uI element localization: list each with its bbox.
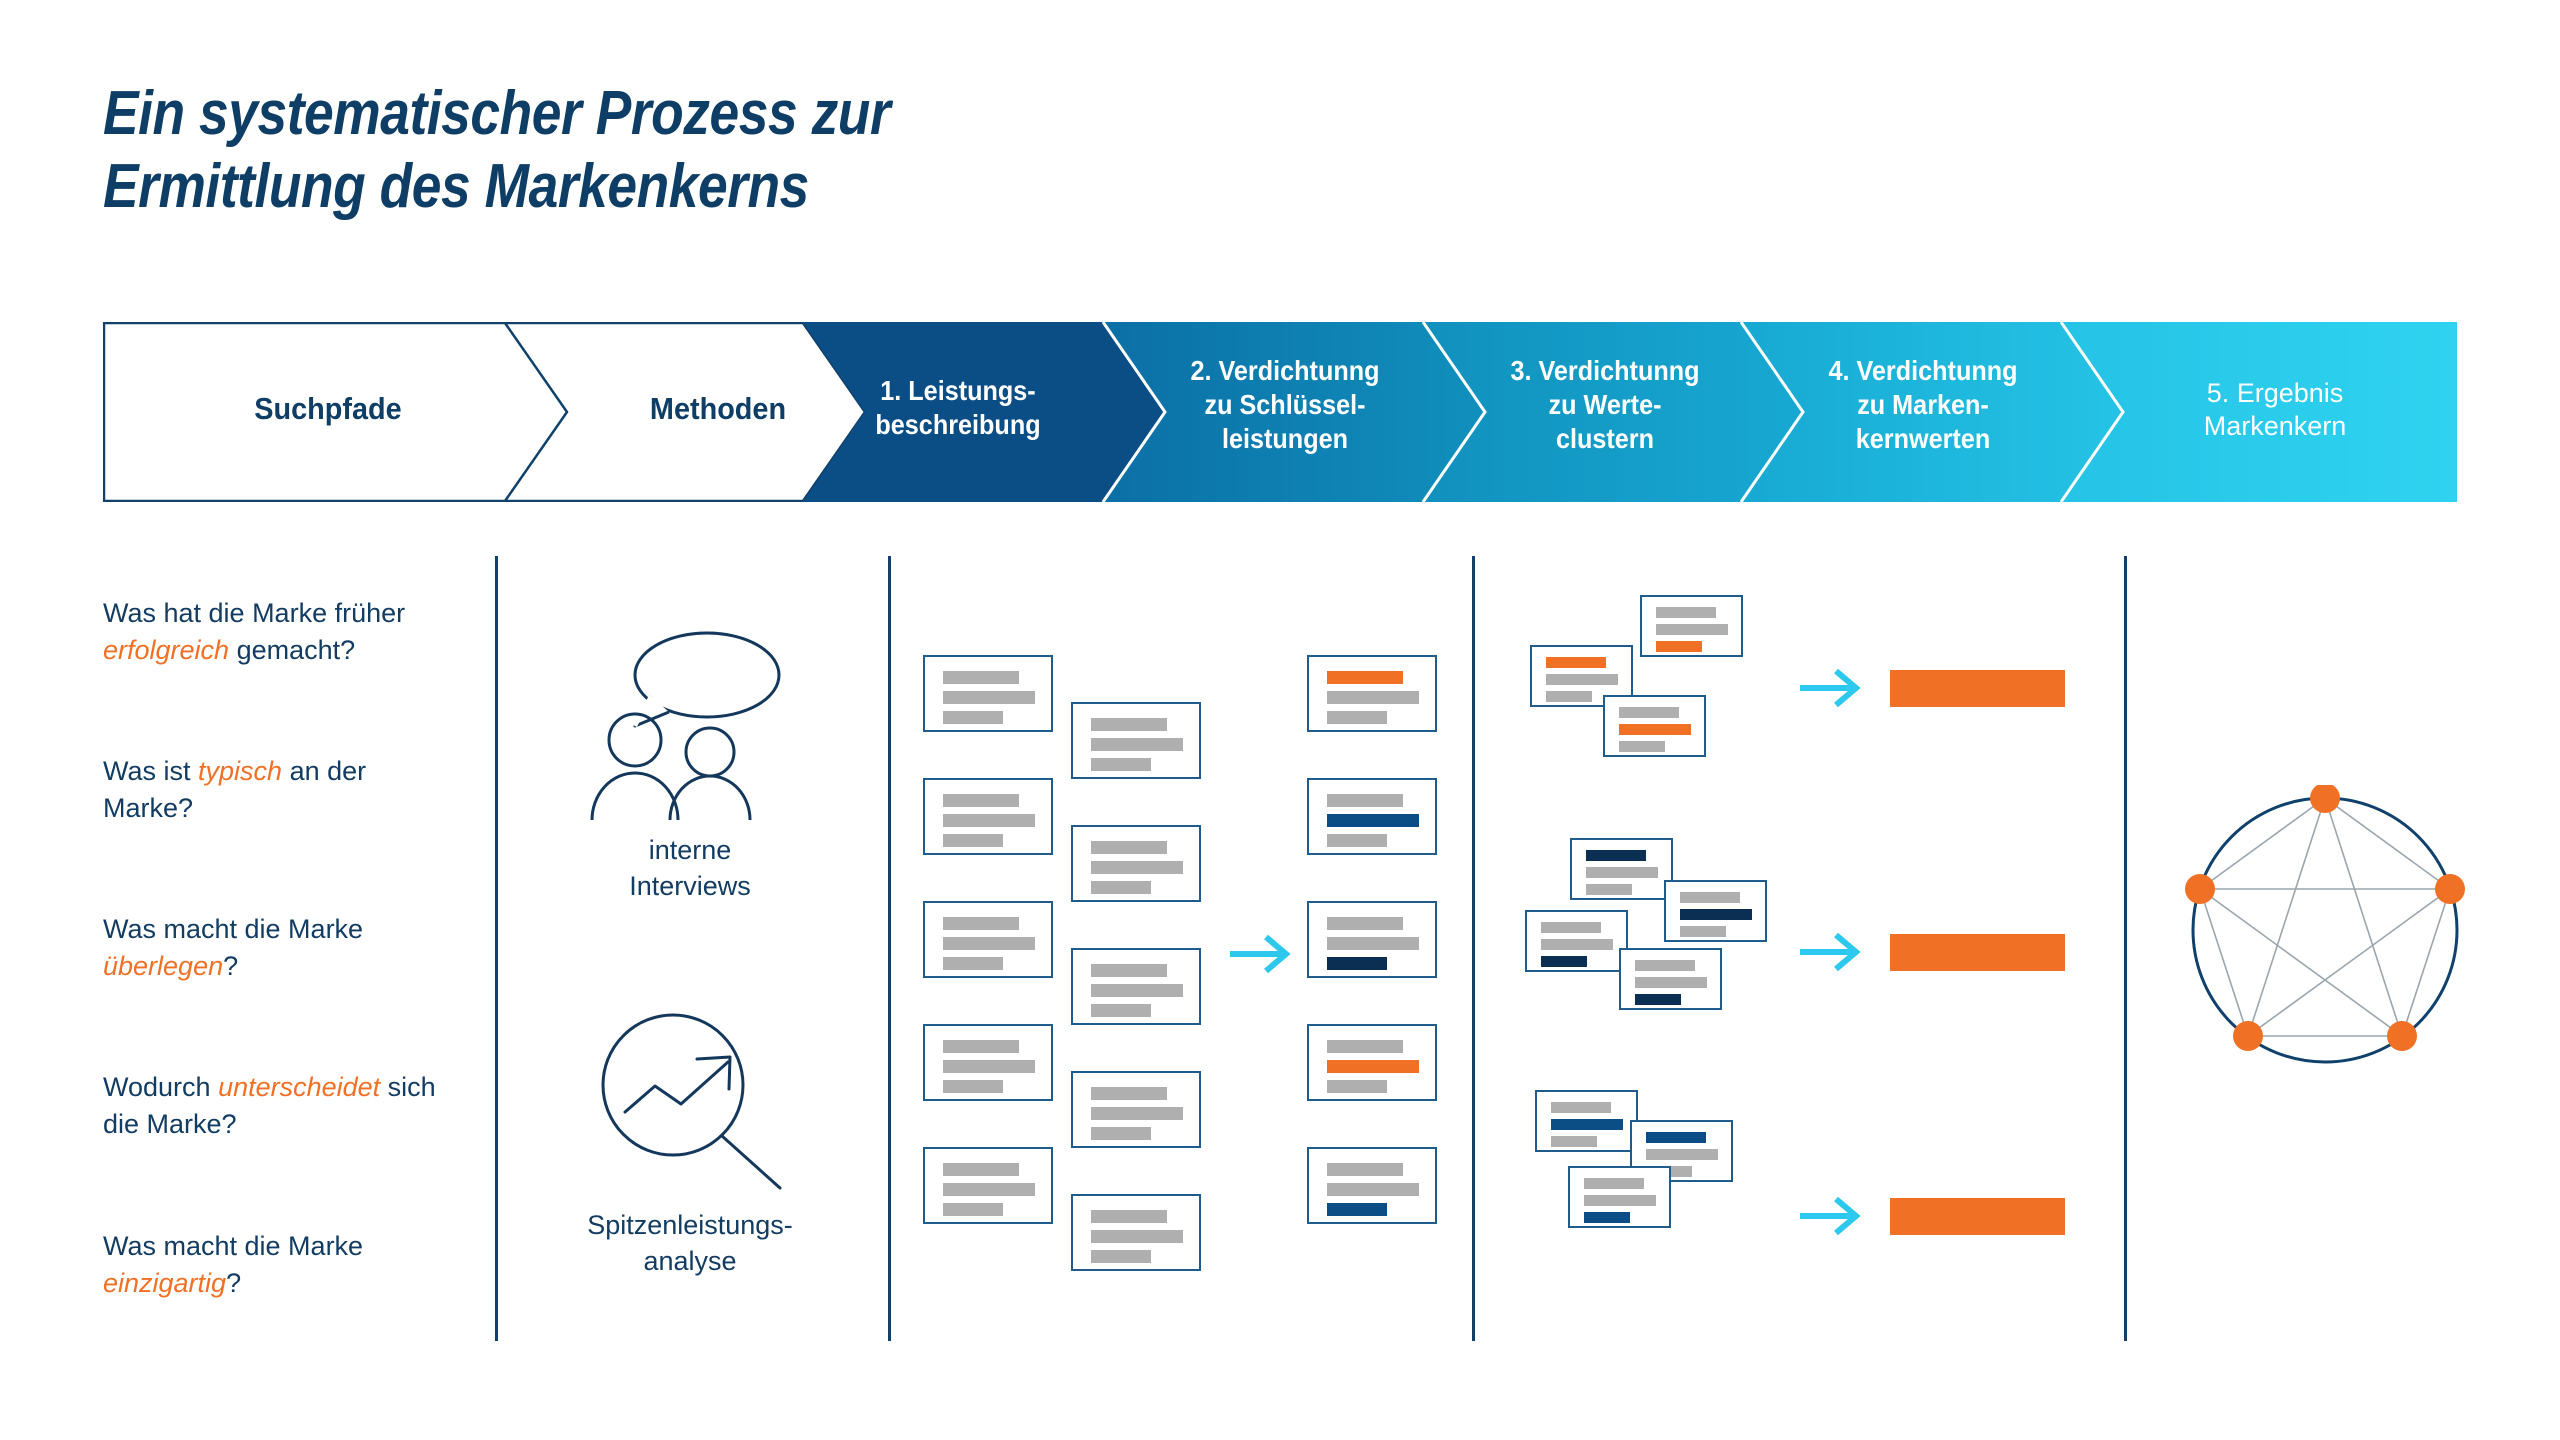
card-bar-gray bbox=[1541, 922, 1601, 933]
pentagon-node-5[interactable] bbox=[2185, 874, 2215, 904]
cluster2-card-3[interactable] bbox=[1525, 910, 1628, 972]
card-bar-gray bbox=[943, 814, 1035, 827]
card-step1-a3[interactable] bbox=[923, 901, 1053, 978]
arrow-right-icon-result-2 bbox=[1798, 930, 1868, 974]
card-bar-gray bbox=[1551, 1136, 1597, 1147]
column-divider-3 bbox=[1472, 556, 1475, 1341]
card-step2-1[interactable] bbox=[1307, 655, 1437, 732]
chevron-outline-block bbox=[104, 323, 865, 501]
card-bar-gray bbox=[1546, 674, 1618, 685]
column-divider-1 bbox=[495, 556, 498, 1341]
card-bar-gray bbox=[1619, 707, 1679, 718]
card-bar-gray bbox=[1327, 691, 1419, 704]
card-bar-gray bbox=[1091, 738, 1183, 751]
two-people-speech-bubble-icon bbox=[585, 630, 795, 820]
card-bar-gray bbox=[1091, 758, 1151, 771]
cluster1-card-1[interactable] bbox=[1640, 595, 1743, 657]
pentagon-node-1[interactable] bbox=[2310, 785, 2340, 813]
question-1-emphasis: erfolgreich bbox=[103, 635, 229, 665]
question-item-2: Was ist typisch an der Marke? bbox=[103, 753, 403, 826]
card-step2-3[interactable] bbox=[1307, 901, 1437, 978]
card-bar-gray bbox=[1541, 939, 1613, 950]
card-bar-gray bbox=[1656, 624, 1728, 635]
card-bar-gray bbox=[943, 671, 1019, 684]
card-bar-gray bbox=[1680, 926, 1726, 937]
card-bar-gray bbox=[1091, 1107, 1183, 1120]
result-bar-orange-2 bbox=[1890, 934, 2065, 971]
card-bar-navy bbox=[1327, 957, 1387, 970]
card-bar-gray bbox=[1091, 984, 1183, 997]
card-bar-gray bbox=[1091, 1210, 1167, 1223]
card-bar-gray bbox=[1586, 867, 1658, 878]
card-bar-gray bbox=[1327, 834, 1387, 847]
card-bar-gray bbox=[1091, 1127, 1151, 1140]
card-bar-gray bbox=[943, 834, 1003, 847]
card-bar-gray bbox=[943, 1183, 1035, 1196]
card-step2-5[interactable] bbox=[1307, 1147, 1437, 1224]
card-bar-gray bbox=[1584, 1178, 1644, 1189]
card-bar-orange bbox=[1327, 1060, 1419, 1073]
method-interne-interviews[interactable]: interne Interviews bbox=[525, 630, 855, 904]
question-1-pre: Was hat die Marke früher bbox=[103, 598, 405, 628]
card-bar-blue bbox=[1327, 814, 1419, 827]
column-divider-2 bbox=[888, 556, 891, 1341]
card-bar-orange bbox=[1327, 671, 1403, 684]
card-bar-gray bbox=[1584, 1195, 1656, 1206]
card-bar-navy bbox=[1586, 850, 1646, 861]
card-bar-gray bbox=[1551, 1102, 1611, 1113]
card-step1-b1[interactable] bbox=[1071, 702, 1201, 779]
cluster1-card-3[interactable] bbox=[1603, 695, 1706, 757]
card-bar-gray bbox=[1091, 964, 1167, 977]
arrow-right-icon-step1-step2 bbox=[1228, 932, 1298, 976]
card-bar-gray bbox=[1327, 1183, 1419, 1196]
card-bar-blue bbox=[1327, 1203, 1387, 1216]
card-bar-gray bbox=[943, 1040, 1019, 1053]
question-item-5: Was macht die Marke einzigartig? bbox=[103, 1228, 453, 1301]
magnifier-trend-icon bbox=[585, 1000, 795, 1195]
card-bar-gray bbox=[1327, 1163, 1403, 1176]
card-bar-gray bbox=[1635, 960, 1695, 971]
card-step1-a1[interactable] bbox=[923, 655, 1053, 732]
question-3-emphasis: überlegen bbox=[103, 951, 223, 981]
result-bar-orange-3 bbox=[1890, 1198, 2065, 1235]
page-title: Ein systematischer Prozess zur Ermittlun… bbox=[103, 78, 1221, 223]
question-4-emphasis: unterscheidet bbox=[218, 1072, 380, 1102]
cluster3-card-3[interactable] bbox=[1568, 1166, 1671, 1228]
method-spitzenleistungsanalyse[interactable]: Spitzenleistungs- analyse bbox=[525, 1000, 855, 1279]
card-step1-b2[interactable] bbox=[1071, 825, 1201, 902]
page-title-line-2: Ermittlung des Markenkerns bbox=[103, 151, 1221, 224]
card-step1-b5[interactable] bbox=[1071, 1194, 1201, 1271]
card-bar-gray bbox=[1327, 711, 1387, 724]
card-bar-gray bbox=[1091, 1230, 1183, 1243]
card-bar-gray bbox=[1327, 937, 1419, 950]
cluster2-card-1[interactable] bbox=[1570, 838, 1673, 900]
card-bar-gray bbox=[943, 794, 1019, 807]
cluster-step3-3 bbox=[1535, 1090, 1755, 1260]
card-bar-blue bbox=[1551, 1119, 1623, 1130]
card-bar-navy bbox=[1680, 909, 1752, 920]
card-bar-gray bbox=[943, 937, 1035, 950]
card-bar-gray bbox=[1091, 841, 1167, 854]
card-bar-navy bbox=[1635, 994, 1681, 1005]
pentagon-outer-circle bbox=[2193, 798, 2457, 1062]
process-chevron-bar: Suchpfade Methoden 1. Leistungs- beschre… bbox=[103, 322, 2457, 502]
card-step1-b4[interactable] bbox=[1071, 1071, 1201, 1148]
page-title-line-1: Ein systematischer Prozess zur bbox=[103, 78, 1221, 151]
cluster-step3-1 bbox=[1530, 595, 1730, 735]
card-bar-gray bbox=[1091, 861, 1183, 874]
card-bar-gray bbox=[1091, 718, 1167, 731]
card-bar-gray bbox=[1680, 892, 1740, 903]
pentagon-network-diagram bbox=[2180, 785, 2470, 1080]
question-item-3: Was macht die Marke überlegen? bbox=[103, 911, 453, 984]
card-bar-gray bbox=[1646, 1149, 1718, 1160]
card-bar-gray bbox=[1091, 1250, 1151, 1263]
question-5-post: ? bbox=[226, 1268, 241, 1298]
card-bar-gray bbox=[1656, 607, 1716, 618]
cluster2-card-4[interactable] bbox=[1619, 948, 1722, 1010]
card-bar-gray bbox=[1327, 1040, 1403, 1053]
card-bar-blue bbox=[1584, 1212, 1630, 1223]
card-bar-gray bbox=[1091, 1087, 1167, 1100]
question-5-pre: Was macht die Marke bbox=[103, 1231, 363, 1261]
card-step2-4[interactable] bbox=[1307, 1024, 1437, 1101]
question-5-emphasis: einzigartig bbox=[103, 1268, 226, 1298]
question-item-1: Was hat die Marke früher erfolgreich gem… bbox=[103, 595, 483, 668]
card-bar-gray bbox=[1091, 881, 1151, 894]
question-1-post: gemacht? bbox=[229, 635, 355, 665]
question-2-pre: Was ist bbox=[103, 756, 198, 786]
card-bar-gray bbox=[943, 1163, 1019, 1176]
result-bar-orange-1 bbox=[1890, 670, 2065, 707]
question-4-pre: Wodurch bbox=[103, 1072, 218, 1102]
method-caption-1: interne Interviews bbox=[525, 832, 855, 904]
card-bar-orange bbox=[1619, 724, 1691, 735]
card-bar-gray bbox=[943, 691, 1035, 704]
card-bar-gray bbox=[1327, 794, 1403, 807]
card-bar-blue bbox=[1646, 1132, 1706, 1143]
card-bar-navy bbox=[1541, 956, 1587, 967]
card-bar-gray bbox=[1635, 977, 1707, 988]
card-step2-2[interactable] bbox=[1307, 778, 1437, 855]
cluster-step3-2 bbox=[1525, 838, 1765, 1018]
card-bar-gray bbox=[943, 917, 1019, 930]
card-bar-gray bbox=[943, 1080, 1003, 1093]
card-bar-gray bbox=[943, 711, 1003, 724]
arrow-right-icon-result-1 bbox=[1798, 666, 1868, 710]
question-3-post: ? bbox=[223, 951, 238, 981]
card-bar-gray bbox=[1586, 884, 1632, 895]
cluster3-card-1[interactable] bbox=[1535, 1090, 1638, 1152]
pentagon-node-4[interactable] bbox=[2233, 1021, 2263, 1051]
card-bar-gray bbox=[943, 1060, 1035, 1073]
card-step1-a4[interactable] bbox=[923, 1024, 1053, 1101]
pentagon-node-2[interactable] bbox=[2435, 874, 2465, 904]
card-bar-gray bbox=[1546, 691, 1592, 702]
column-divider-4 bbox=[2124, 556, 2127, 1341]
card-bar-gray bbox=[1091, 1004, 1151, 1017]
card-bar-orange bbox=[1546, 657, 1606, 668]
card-bar-orange bbox=[1656, 641, 1702, 652]
card-step1-a2[interactable] bbox=[923, 778, 1053, 855]
method-caption-2: Spitzenleistungs- analyse bbox=[525, 1207, 855, 1279]
card-bar-gray bbox=[943, 957, 1003, 970]
question-2-emphasis: typisch bbox=[198, 756, 282, 786]
pentagon-node-3[interactable] bbox=[2387, 1021, 2417, 1051]
question-item-4: Wodurch unterscheidet sich die Marke? bbox=[103, 1069, 453, 1142]
question-3-pre: Was macht die Marke bbox=[103, 914, 363, 944]
card-bar-gray bbox=[1619, 741, 1665, 752]
card-step1-b3[interactable] bbox=[1071, 948, 1201, 1025]
cluster2-card-2[interactable] bbox=[1664, 880, 1767, 942]
card-bar-gray bbox=[1327, 917, 1403, 930]
card-step1-a5[interactable] bbox=[923, 1147, 1053, 1224]
infographic-canvas: Ein systematischer Prozess zur Ermittlun… bbox=[0, 0, 2560, 1440]
pentagon-links bbox=[2200, 798, 2450, 1036]
arrow-right-icon-result-3 bbox=[1798, 1194, 1868, 1238]
card-bar-gray bbox=[943, 1203, 1003, 1216]
card-bar-gray bbox=[1327, 1080, 1387, 1093]
